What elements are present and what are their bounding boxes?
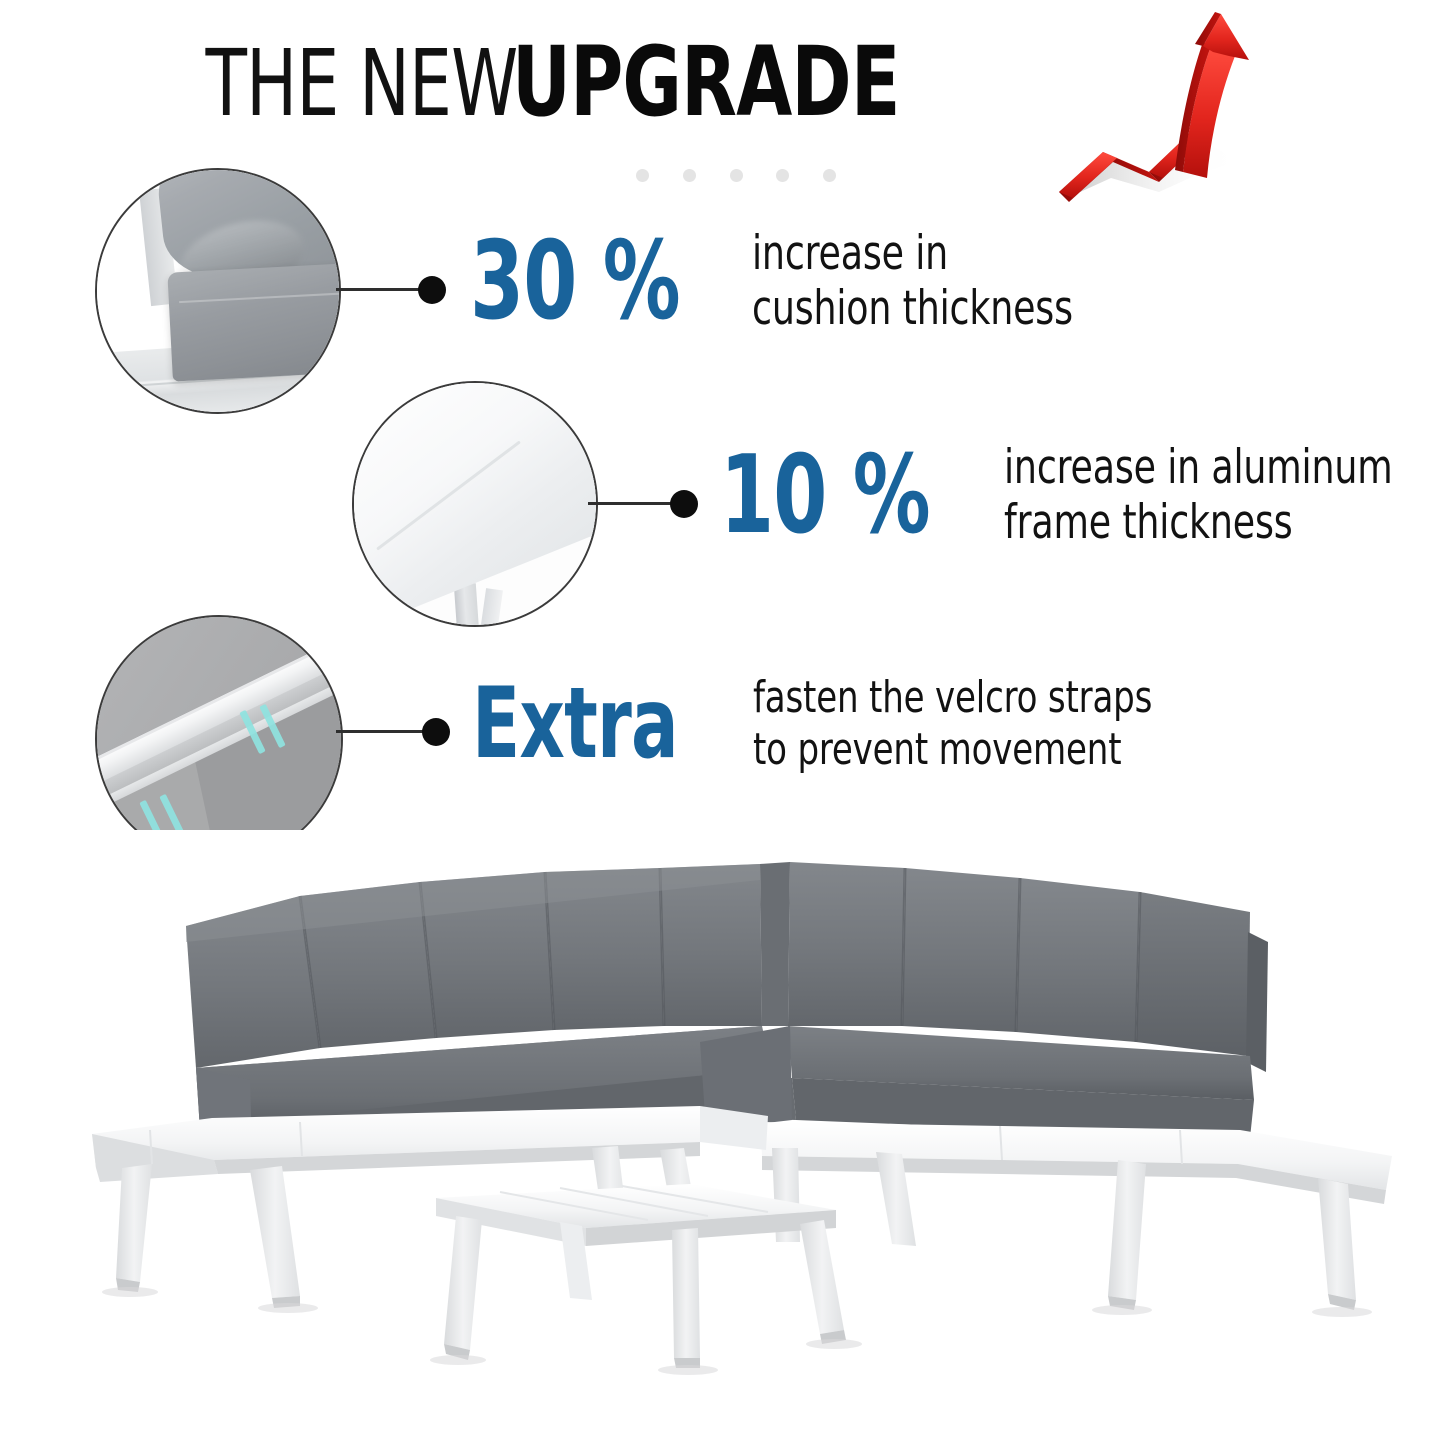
leader-dot-1 [418,276,446,304]
feature-desc-2-line2: frame thickness [1004,495,1393,550]
leader-line-3 [336,730,426,733]
feature-desc-3: fasten the velcro straps to prevent move… [753,672,1152,776]
dot-3 [730,169,743,182]
feature-desc-2-line1: increase in aluminum [1004,440,1393,495]
title-light-part: THE NEW [206,38,518,130]
feature-metric-1: 30 % [470,230,680,334]
feature-desc-1-line1: increase in [752,226,1073,281]
title-bold-part: UPGRADE [512,34,900,130]
leader-dot-3 [422,718,450,746]
growth-arrow-icon [1053,12,1253,208]
decorative-dots [636,169,836,182]
leader-line-1 [336,288,422,291]
feature-metric-2: 10 % [720,444,930,548]
aluminum-frame-closeup-photo [352,381,598,627]
leader-line-2 [588,502,674,505]
feature-desc-1-line2: cushion thickness [752,281,1073,336]
feature-desc-3-line2: to prevent movement [753,724,1152,776]
frame-photo-inner [354,383,596,625]
feature-desc-3-line1: fasten the velcro straps [753,672,1152,724]
dot-4 [776,169,789,182]
page-title: THE NEWUPGRADE [0,34,1110,130]
feature-row-cushion-thickness: 30 % increase in cushion thickness [470,226,1125,337]
dot-2 [683,169,696,182]
cushion-photo-inner [97,170,339,412]
velcro-strap-closeup-photo [95,615,343,863]
feature-metric-3: Extra [472,677,678,771]
l-shaped-sectional-sofa-with-coffee-table-photo [0,830,1445,1445]
infographic-canvas: THE NEWUPGRADE [0,0,1445,1445]
feature-row-velcro-straps: Extra fasten the velcro straps to preven… [472,672,1217,776]
feature-row-frame-thickness: 10 % increase in aluminum frame thicknes… [720,440,1445,551]
leader-dot-2 [670,490,698,518]
cushion-closeup-photo [95,168,341,414]
velcro-photo-inner [97,617,341,861]
feature-desc-2: increase in aluminum frame thickness [1004,440,1393,551]
dot-1 [636,169,649,182]
dot-5 [823,169,836,182]
feature-desc-1: increase in cushion thickness [752,226,1073,337]
